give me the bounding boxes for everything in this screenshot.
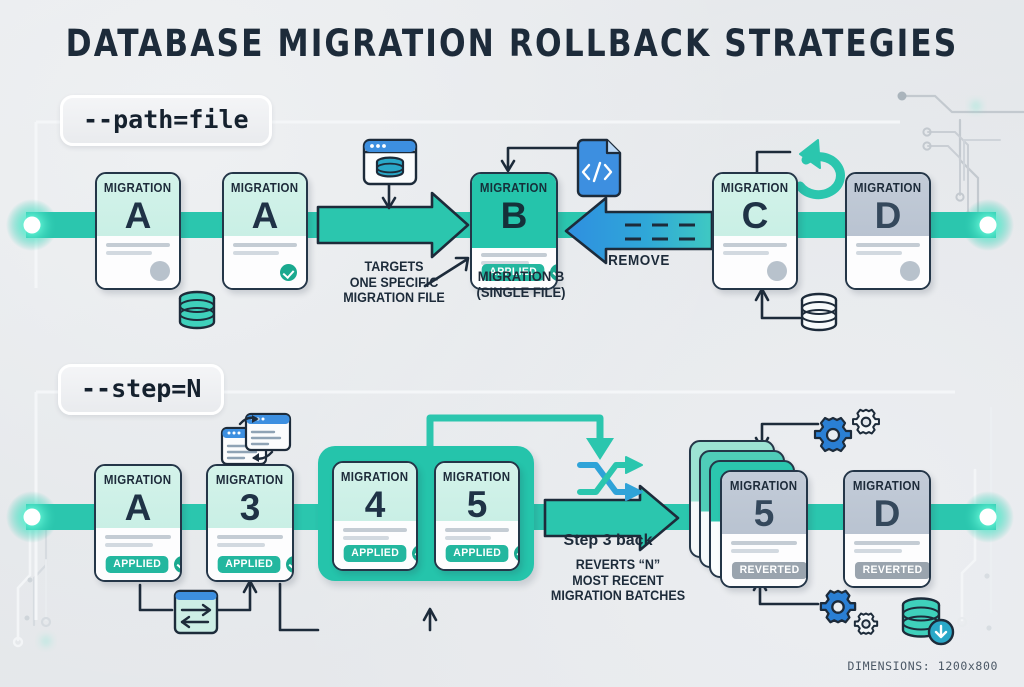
card-head: MIGRATION 3	[208, 466, 292, 528]
card-symbol: 4	[365, 485, 386, 525]
card-head: MIGRATION C	[714, 174, 796, 236]
card-line	[723, 251, 769, 255]
card-body	[224, 236, 306, 288]
card-caption: MIGRATION	[853, 479, 920, 493]
flag-badge-step-n: --step=N	[58, 364, 224, 415]
card-body: APPLIED	[436, 521, 518, 569]
check-icon	[174, 556, 182, 573]
card-head: MIGRATION 5	[436, 463, 518, 521]
card-line	[731, 549, 779, 553]
label-reverts-description: REVERTS “N” MOST RECENT MIGRATION BATCHE…	[541, 557, 695, 604]
card-symbol: 5	[467, 485, 488, 525]
card-body	[714, 236, 796, 288]
status-badge-applied: APPLIED	[444, 545, 520, 563]
card-caption: MIGRATION	[480, 181, 547, 195]
badge-label: APPLIED	[344, 545, 407, 563]
card-caption: MIGRATION	[443, 470, 510, 484]
card-line	[217, 543, 265, 547]
arrow-swap-to-card-3	[218, 584, 250, 610]
card-migration-3[interactable]: MIGRATION 3 APPLIED	[206, 464, 294, 582]
label-step-back: Step 3 back	[545, 532, 671, 550]
dimensions-note: DIMENSIONS: 1200x800	[848, 659, 998, 673]
card-line	[731, 541, 797, 545]
badge-label: APPLIED	[446, 545, 509, 563]
card-symbol: D	[874, 494, 901, 534]
arrow-codefile-to-card-b	[508, 148, 580, 168]
flag-badge-path-file: --path=file	[60, 95, 272, 146]
card-migration-a-1[interactable]: MIGRATION A	[95, 172, 181, 290]
card-symbol: A	[125, 488, 152, 528]
arrow-card-a-to-swap	[140, 585, 172, 610]
arrow-card-3-to-group	[280, 584, 318, 630]
card-line	[343, 528, 407, 532]
card-line	[233, 251, 279, 255]
card-symbol: A	[252, 196, 279, 236]
badge-label: APPLIED	[218, 556, 281, 574]
check-icon	[514, 545, 520, 562]
card-status-dot	[900, 261, 920, 281]
card-line	[854, 549, 902, 553]
card-migration-5-reverted[interactable]: MIGRATION 5 REVERTED	[720, 470, 808, 588]
card-line	[106, 243, 170, 247]
card-status-dot	[767, 261, 787, 281]
card-body: REVERTED	[845, 534, 929, 586]
card-caption: MIGRATION	[730, 479, 797, 493]
card-line	[343, 536, 389, 540]
card-line	[854, 541, 920, 545]
card-migration-d-bottom[interactable]: MIGRATION D REVERTED	[843, 470, 931, 588]
rollback-arrow-icon	[800, 140, 840, 195]
card-head: MIGRATION A	[97, 174, 179, 236]
database-cylinder-icon	[802, 294, 836, 330]
gear-icon	[815, 410, 879, 451]
arrow-db-to-card-c	[762, 292, 800, 318]
card-body	[97, 236, 179, 288]
card-line	[445, 536, 491, 540]
page-title: DATABASE MIGRATION ROLLBACK STRATEGIES	[31, 22, 994, 65]
card-line	[233, 243, 297, 247]
card-line	[105, 543, 153, 547]
card-head: MIGRATION D	[845, 472, 929, 534]
card-line	[856, 243, 920, 247]
card-line	[105, 535, 171, 539]
status-badge-applied: APPLIED	[216, 556, 294, 574]
card-caption: MIGRATION	[104, 473, 171, 487]
card-symbol: D	[875, 196, 902, 236]
card-migration-5-applied[interactable]: MIGRATION 5 APPLIED	[434, 461, 520, 571]
card-migration-c[interactable]: MIGRATION C	[712, 172, 798, 290]
card-symbol: C	[742, 196, 769, 236]
card-head: MIGRATION 4	[334, 463, 416, 521]
card-body: APPLIED	[334, 521, 416, 569]
card-head: MIGRATION D	[847, 174, 929, 236]
browser-sync-icon	[222, 414, 290, 464]
infographic-canvas: DATABASE MIGRATION ROLLBACK STRATEGIES -…	[0, 0, 1024, 687]
card-status-dot	[150, 261, 170, 281]
card-caption: MIGRATION	[231, 181, 298, 195]
browser-database-icon	[364, 140, 416, 184]
badge-label: REVERTED	[732, 562, 807, 580]
circuit-decoration-bottom-left	[14, 520, 51, 646]
card-symbol: 5	[754, 494, 775, 534]
status-badge-reverted: REVERTED	[730, 562, 808, 580]
card-caption: MIGRATION	[104, 181, 171, 195]
label-remove: REMOVE	[593, 253, 684, 270]
card-head: MIGRATION B	[472, 174, 556, 248]
label-migration-b-single-file: MIGRATION B (SINGLE FILE)	[460, 268, 583, 300]
database-cylinder-icon	[180, 292, 214, 328]
shuffle-icon	[580, 457, 642, 500]
card-head: MIGRATION 5	[722, 472, 806, 534]
file-swap-icon	[175, 591, 217, 633]
card-migration-a-2[interactable]: MIGRATION A	[222, 172, 308, 290]
label-targets: TARGETS ONE SPECIFIC MIGRATION FILE	[337, 259, 450, 306]
status-badge-applied: APPLIED	[342, 545, 418, 563]
card-line	[723, 243, 787, 247]
card-body	[847, 236, 929, 288]
gear-icon	[821, 591, 877, 634]
circuit-decoration-bottom-right	[958, 408, 992, 631]
card-head: MIGRATION A	[96, 466, 180, 528]
card-caption: MIGRATION	[216, 473, 283, 487]
check-icon	[286, 556, 294, 573]
card-line	[856, 251, 902, 255]
card-line	[445, 528, 509, 532]
card-caption: MIGRATION	[721, 181, 788, 195]
card-head: MIGRATION A	[224, 174, 306, 236]
card-symbol: A	[125, 196, 152, 236]
card-symbol: B	[501, 196, 528, 236]
card-caption: MIGRATION	[341, 470, 408, 484]
card-migration-a-bottom[interactable]: MIGRATION A APPLIED	[94, 464, 182, 582]
check-icon	[412, 545, 418, 562]
badge-label: APPLIED	[106, 556, 169, 574]
status-badge-reverted: REVERTED	[853, 562, 931, 580]
card-line	[106, 251, 152, 255]
card-body: APPLIED	[96, 528, 180, 580]
card-migration-4[interactable]: MIGRATION 4 APPLIED	[332, 461, 418, 571]
card-line	[217, 535, 283, 539]
card-body: REVERTED	[722, 534, 806, 586]
database-download-icon	[903, 599, 953, 645]
card-body: APPLIED	[208, 528, 292, 580]
card-line	[481, 253, 547, 257]
badge-label: REVERTED	[855, 562, 930, 580]
code-file-icon	[578, 140, 620, 196]
check-icon	[280, 264, 297, 281]
card-caption: MIGRATION	[854, 181, 921, 195]
card-symbol: 3	[240, 488, 261, 528]
status-badge-applied: APPLIED	[104, 556, 182, 574]
card-migration-d-top[interactable]: MIGRATION D	[845, 172, 931, 290]
forward-arrow-top	[318, 193, 468, 257]
card-check-badge	[280, 264, 297, 281]
